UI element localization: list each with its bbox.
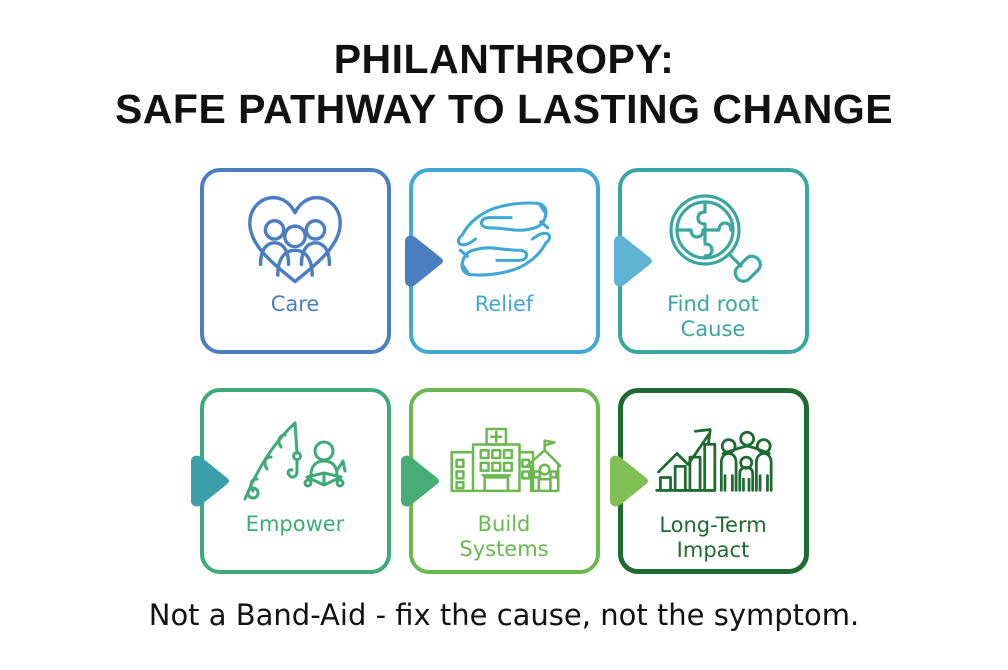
card-label-line: Find root bbox=[667, 292, 759, 317]
page-title: PHILANTHROPY: SAFE PATHWAY TO LASTING CH… bbox=[0, 34, 1008, 134]
card-label-line: Impact bbox=[659, 538, 766, 563]
heart-with-people-icon bbox=[235, 186, 355, 290]
card-label-care: Care bbox=[265, 292, 326, 317]
card-label-line: Long-Term bbox=[659, 513, 766, 538]
hospital-school-buildings-icon bbox=[444, 406, 564, 510]
card-label-relief: Relief bbox=[469, 292, 540, 317]
row-top: Care bbox=[0, 168, 1008, 354]
arrow-empower-to-build-systems bbox=[394, 455, 440, 507]
card-label-line: Empower bbox=[246, 512, 345, 537]
infographic-poster: PHILANTHROPY: SAFE PATHWAY TO LASTING CH… bbox=[0, 0, 1008, 670]
card-label-line: Cause bbox=[667, 317, 759, 342]
card-grid: Care bbox=[0, 168, 1008, 574]
arrow-build-systems-to-long-term-impact bbox=[603, 455, 649, 507]
arrow-relief-to-find-root-cause bbox=[607, 235, 653, 287]
card-care[interactable]: Care bbox=[200, 168, 391, 354]
footer-caption: Not a Band-Aid - fix the cause, not the … bbox=[0, 598, 1008, 632]
arrow-care-to-relief bbox=[398, 235, 444, 287]
card-label-line: Care bbox=[271, 292, 320, 317]
row-bottom: Empower bbox=[0, 388, 1008, 574]
growth-chart-family-icon bbox=[653, 407, 773, 511]
card-label-line: Relief bbox=[475, 292, 534, 317]
title-line-2: SAFE PATHWAY TO LASTING CHANGE bbox=[0, 84, 1008, 134]
title-line-1: PHILANTHROPY: bbox=[0, 34, 1008, 84]
card-label-empower: Empower bbox=[240, 512, 351, 537]
helping-hands-icon bbox=[444, 186, 564, 290]
card-label-build-systems: Build Systems bbox=[453, 512, 554, 562]
card-label-long-term-impact: Long-Term Impact bbox=[653, 513, 772, 563]
card-label-line: Build bbox=[459, 512, 548, 537]
arrow-into-empower bbox=[184, 455, 230, 507]
magnifier-puzzle-icon bbox=[653, 186, 773, 290]
card-label-find-root-cause: Find root Cause bbox=[661, 292, 765, 342]
fishing-rod-person-reading-icon bbox=[235, 406, 355, 510]
card-label-line: Systems bbox=[459, 537, 548, 562]
